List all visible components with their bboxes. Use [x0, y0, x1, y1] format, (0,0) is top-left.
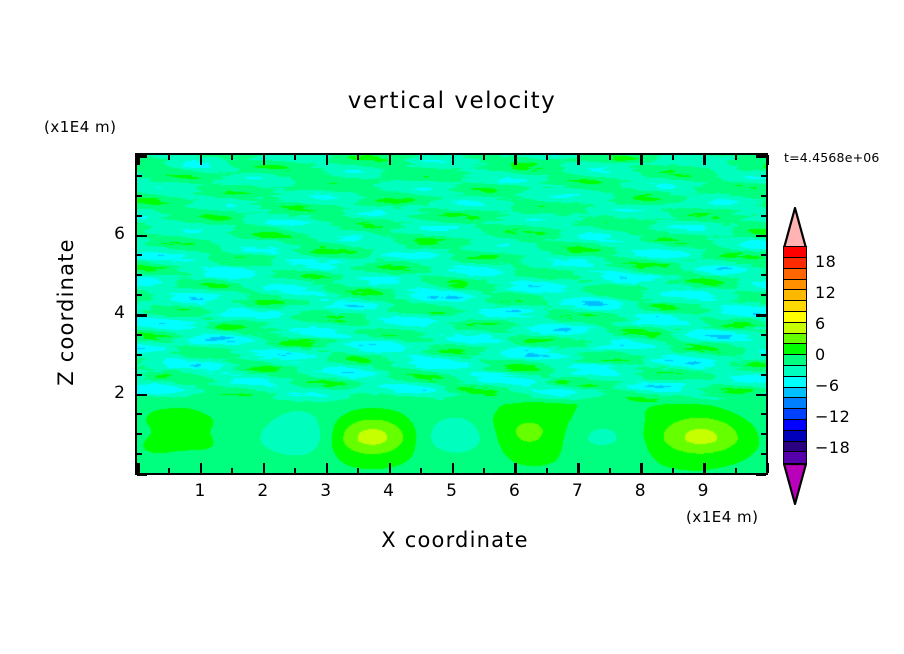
x-tick-label: 2: [248, 481, 278, 501]
colorbar-tick-label: 6: [815, 314, 826, 333]
tick-mark: [200, 155, 203, 165]
y-tick-label: 4: [95, 303, 125, 323]
colorbar-tick-label: −12: [815, 407, 850, 426]
tick-mark: [756, 473, 766, 476]
tick-mark: [168, 468, 170, 473]
colorbar-segment: [783, 451, 807, 463]
tick-mark: [577, 155, 580, 165]
x-tick-label: 7: [562, 481, 592, 501]
tick-mark: [137, 433, 142, 435]
tick-mark: [294, 155, 296, 160]
x-tick-label: 5: [437, 481, 467, 501]
tick-mark: [761, 354, 766, 356]
tick-mark: [640, 463, 643, 473]
tick-mark: [735, 468, 737, 473]
tick-mark: [137, 394, 147, 397]
x-tick-label: 3: [311, 481, 341, 501]
tick-mark: [761, 175, 766, 177]
tick-mark: [483, 468, 485, 473]
tick-mark: [609, 468, 611, 473]
tick-mark: [168, 155, 170, 160]
tick-mark: [514, 155, 517, 165]
tick-mark: [263, 463, 266, 473]
tick-mark: [137, 155, 147, 158]
figure-canvas: vertical velocity (x1E4 m) (x1E4 m) t=4.…: [0, 0, 904, 654]
tick-mark: [389, 155, 392, 165]
tick-mark: [761, 294, 766, 296]
tick-mark: [137, 453, 142, 455]
tick-mark: [137, 215, 142, 217]
tick-mark: [137, 195, 142, 197]
tick-mark: [137, 175, 142, 177]
colorbar-tick-label: 12: [815, 283, 836, 302]
tick-mark: [761, 215, 766, 217]
tick-mark: [137, 314, 147, 317]
tick-mark: [452, 463, 455, 473]
tick-mark: [761, 374, 766, 376]
tick-mark: [263, 155, 266, 165]
tick-mark: [137, 334, 142, 336]
tick-mark: [420, 468, 422, 473]
tick-mark: [703, 155, 706, 165]
tick-mark: [546, 155, 548, 160]
tick-mark: [137, 235, 147, 238]
tick-mark: [200, 463, 203, 473]
tick-mark: [577, 463, 580, 473]
tick-mark: [137, 294, 142, 296]
tick-mark: [756, 155, 766, 158]
x-axis-unit-label: (x1E4 m): [686, 508, 759, 526]
tick-mark: [326, 155, 329, 165]
tick-mark: [761, 195, 766, 197]
tick-mark: [766, 155, 769, 165]
tick-mark: [761, 453, 766, 455]
x-tick-label: 9: [688, 481, 718, 501]
tick-mark: [756, 314, 766, 317]
tick-mark: [452, 155, 455, 165]
tick-mark: [483, 155, 485, 160]
tick-mark: [546, 468, 548, 473]
tick-mark: [672, 468, 674, 473]
colorbar-tick-label: 0: [815, 345, 826, 364]
tick-mark: [514, 463, 517, 473]
tick-mark: [761, 254, 766, 256]
tick-mark: [640, 155, 643, 165]
contour-plot-area: [135, 153, 768, 475]
y-tick-label: 2: [95, 383, 125, 403]
tick-mark: [761, 334, 766, 336]
colorbar-tick-label: −18: [815, 438, 850, 457]
x-tick-label: 4: [374, 481, 404, 501]
tick-mark: [703, 463, 706, 473]
x-tick-label: 6: [499, 481, 529, 501]
tick-mark: [294, 468, 296, 473]
colorbar-tick-label: 18: [815, 252, 836, 271]
tick-mark: [766, 463, 769, 473]
velocity-field-raster: [137, 155, 766, 473]
colorbar-under-arrow: [783, 463, 807, 505]
colorbar-tick-label: −6: [815, 376, 840, 395]
tick-mark: [137, 354, 142, 356]
tick-mark: [357, 468, 359, 473]
tick-mark: [137, 254, 142, 256]
x-axis-title: X coordinate: [275, 528, 635, 552]
y-axis-title: Z coordinate: [54, 212, 78, 412]
tick-mark: [137, 413, 142, 415]
x-tick-label: 8: [625, 481, 655, 501]
tick-mark: [756, 235, 766, 238]
tick-mark: [231, 468, 233, 473]
y-tick-label: 6: [95, 224, 125, 244]
tick-mark: [761, 413, 766, 415]
y-axis-unit-label: (x1E4 m): [44, 118, 117, 136]
tick-mark: [761, 274, 766, 276]
tick-mark: [756, 394, 766, 397]
tick-mark: [735, 155, 737, 160]
tick-mark: [357, 155, 359, 160]
tick-mark: [609, 155, 611, 160]
time-annotation: t=4.4568e+06: [784, 150, 880, 165]
tick-mark: [137, 374, 142, 376]
tick-mark: [137, 473, 147, 476]
tick-mark: [389, 463, 392, 473]
tick-mark: [761, 433, 766, 435]
tick-mark: [420, 155, 422, 160]
tick-mark: [326, 463, 329, 473]
tick-mark: [137, 463, 140, 473]
colorbar: [783, 247, 807, 463]
page-title: vertical velocity: [0, 88, 904, 114]
x-tick-label: 1: [185, 481, 215, 501]
tick-mark: [231, 155, 233, 160]
tick-mark: [137, 274, 142, 276]
tick-mark: [672, 155, 674, 160]
colorbar-over-arrow: [783, 207, 807, 249]
